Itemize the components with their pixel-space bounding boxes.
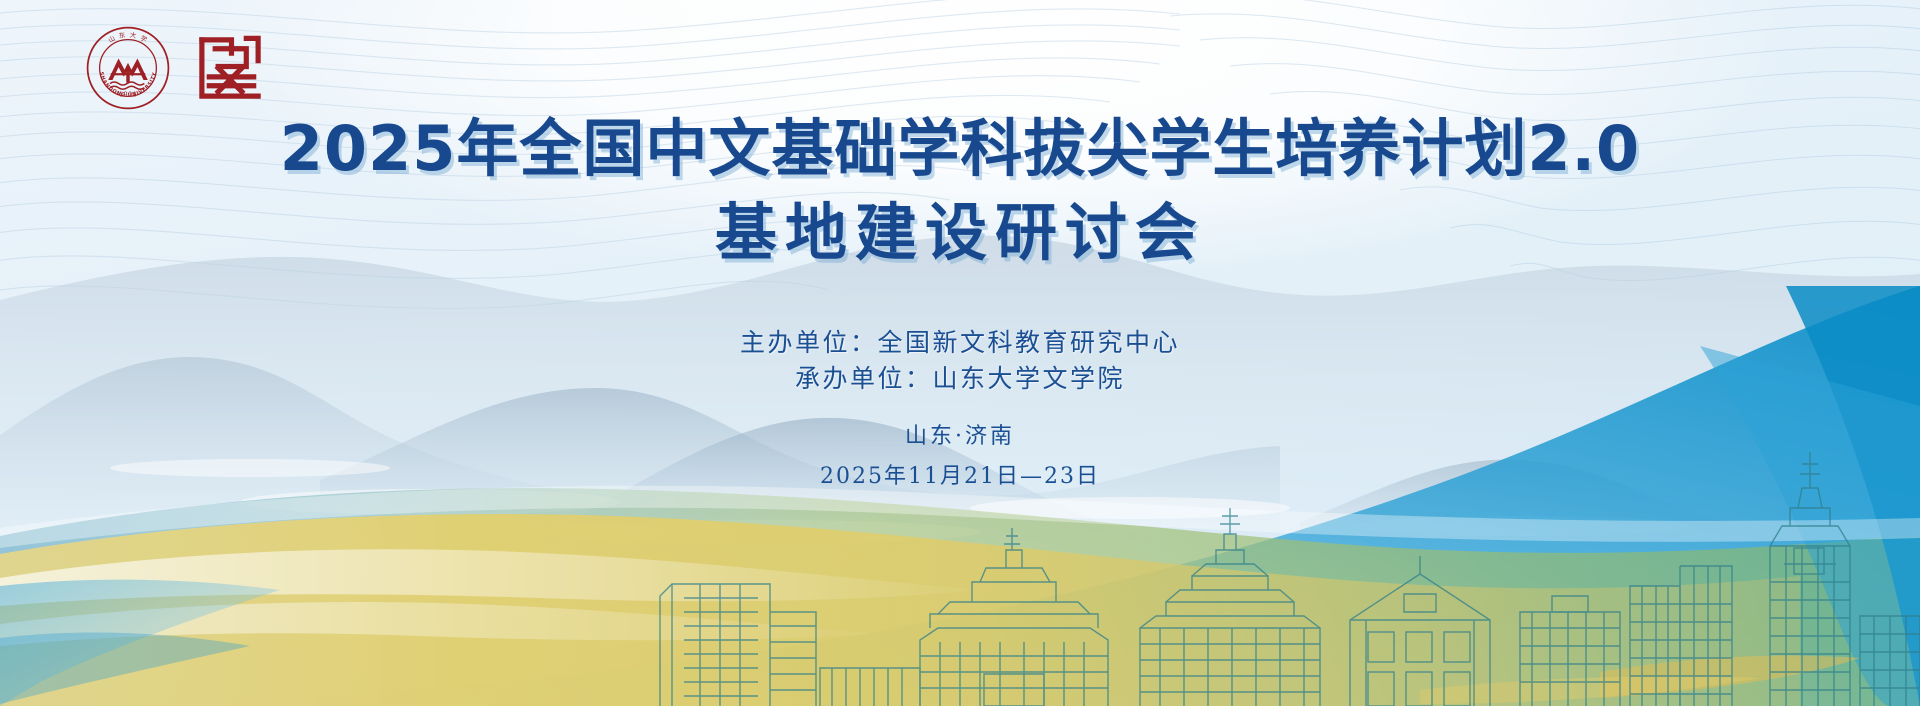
venue-date: 2025年11月21日—23日 [0, 459, 1920, 494]
logo-group: 山 东 大 学 SHANDONG UNIVERSITY 1901 [85, 25, 267, 111]
title-line-2: 基地建设研讨会 [0, 202, 1920, 264]
venue-block: 山东·济南 2025年11月21日—23日 [0, 420, 1920, 494]
shandong-university-seal-icon: 山 东 大 学 SHANDONG UNIVERSITY 1901 [85, 25, 171, 111]
conference-banner: 山 东 大 学 SHANDONG UNIVERSITY 1901 [0, 0, 1920, 706]
seal-script-stamp-icon [193, 31, 267, 105]
svg-text:1901: 1901 [119, 90, 137, 98]
organizer-block: 主办单位：全国新文科教育研究中心 承办单位：山东大学文学院 [0, 325, 1920, 398]
banner-title: 2025年全国中文基础学科拔尖学生培养计划2.0 基地建设研讨会 [0, 118, 1920, 264]
venue-city: 山东·济南 [0, 420, 1920, 453]
title-line-1: 2025年全国中文基础学科拔尖学生培养计划2.0 [0, 118, 1920, 180]
host-organizer-line: 主办单位：全国新文科教育研究中心 [0, 325, 1920, 361]
co-host-organizer-line: 承办单位：山东大学文学院 [0, 361, 1920, 397]
svg-text:山 东 大 学: 山 东 大 学 [106, 30, 149, 44]
